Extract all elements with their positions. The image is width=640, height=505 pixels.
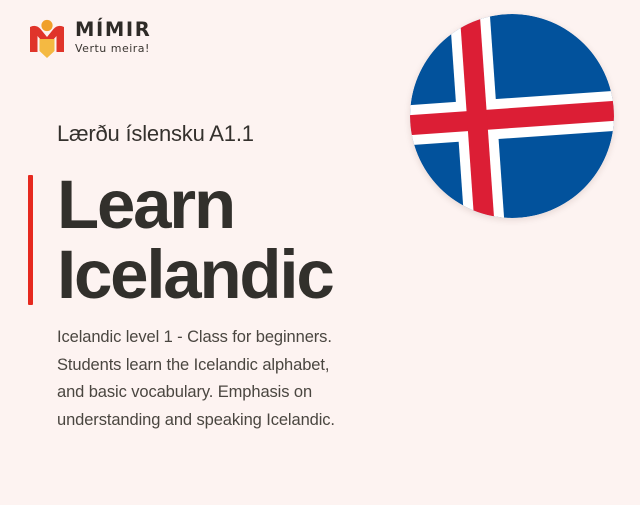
- brand-text: MÍMIR Vertu meira!: [75, 18, 151, 58]
- brand-name: MÍMIR: [75, 20, 151, 40]
- iceland-flag-circle-icon: [410, 14, 614, 218]
- brand-lockup: MÍMIR Vertu meira!: [28, 18, 151, 58]
- brand-tagline: Vertu meira!: [75, 41, 151, 58]
- eyebrow-text: Lærðu íslensku A1.1: [57, 121, 254, 147]
- page-title-text: Learn Icelandic: [57, 170, 333, 311]
- accent-rule: [28, 175, 33, 305]
- course-promo-card: MÍMIR Vertu meira!: [0, 0, 640, 505]
- course-description: Icelandic level 1 - Class for beginners.…: [57, 324, 457, 435]
- page-title: Learn Icelandic: [28, 170, 333, 311]
- mimir-m-logo-icon: [28, 18, 66, 58]
